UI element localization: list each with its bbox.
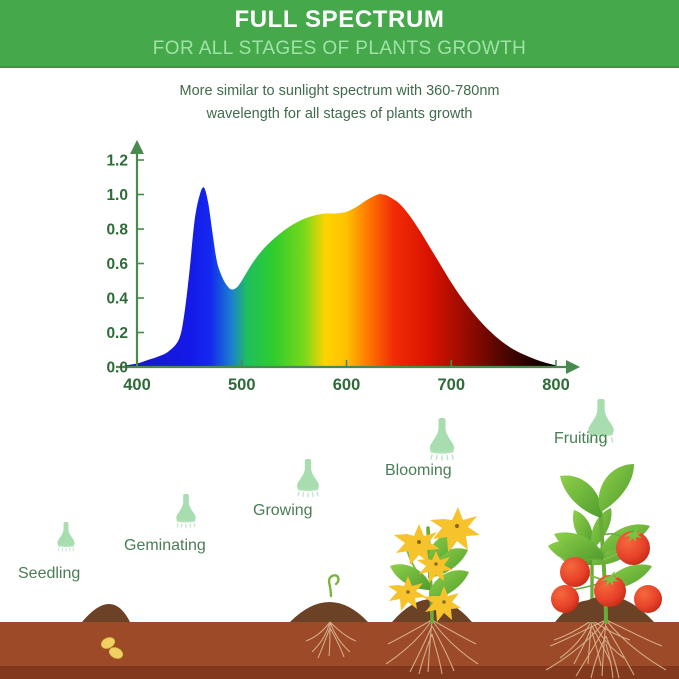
infographic-root: FULL SPECTRUM FOR ALL STAGES OF PLANTS G… bbox=[0, 0, 679, 679]
x-tick-label: 400 bbox=[123, 376, 151, 394]
x-axis-tick-labels: 400500600700800 bbox=[123, 376, 570, 394]
description-block: More similar to sunlight spectrum with 3… bbox=[0, 80, 679, 126]
x-tick-label: 500 bbox=[228, 376, 256, 394]
x-tick-label: 800 bbox=[542, 376, 570, 394]
y-tick-label: 0.8 bbox=[106, 222, 128, 239]
x-tick-label: 600 bbox=[333, 376, 361, 394]
grow-lamp-icon-seedling bbox=[52, 522, 80, 553]
fruit-5 bbox=[634, 585, 662, 613]
fruit-2 bbox=[560, 557, 590, 587]
leaf-5b bbox=[599, 464, 634, 512]
page-title: FULL SPECTRUM bbox=[234, 8, 444, 32]
header-banner: FULL SPECTRUM FOR ALL STAGES OF PLANTS G… bbox=[0, 0, 679, 68]
stage-label-blooming: Blooming bbox=[385, 462, 452, 480]
fruit-4 bbox=[551, 585, 579, 613]
stage-label-growing: Growing bbox=[253, 502, 313, 520]
sprout-shoot bbox=[329, 575, 338, 596]
stage-label-seedling: Seedling bbox=[18, 565, 80, 583]
spectrum-chart-svg: 0.00.20.40.60.81.01.2 400500600700800 bbox=[0, 140, 679, 400]
grow-lamp-icon-blooming bbox=[422, 418, 462, 462]
x-tick-label: 700 bbox=[437, 376, 465, 394]
y-tick-label: 1.0 bbox=[106, 187, 128, 204]
page-subtitle: FOR ALL STAGES OF PLANTS GROWTH bbox=[153, 39, 526, 58]
spectrum-curve bbox=[116, 187, 556, 367]
stage-label-geminating: Geminating bbox=[124, 537, 206, 555]
y-tick-label: 1.2 bbox=[106, 153, 128, 170]
soil-mound-2 bbox=[290, 602, 368, 622]
spectrum-chart: 0.00.20.40.60.81.01.2 400500600700800 bbox=[0, 140, 679, 400]
description-line-1: More similar to sunlight spectrum with 3… bbox=[0, 80, 679, 103]
grow-lamp-icon bbox=[422, 418, 462, 462]
y-axis-tick-labels: 0.00.20.40.60.81.01.2 bbox=[106, 153, 128, 377]
grow-lamp-icon-geminating bbox=[170, 494, 202, 529]
description-line-2: wavelength for all stages of plants grow… bbox=[0, 103, 679, 126]
y-tick-label: 0.0 bbox=[106, 360, 128, 377]
grow-lamp-icon-growing bbox=[290, 459, 326, 499]
y-tick-label: 0.4 bbox=[106, 291, 128, 308]
grow-lamp-icon bbox=[290, 459, 326, 499]
soil-mound-1 bbox=[82, 604, 130, 622]
grow-lamp-icon bbox=[170, 494, 202, 529]
leaf-5a bbox=[560, 475, 602, 518]
y-tick-label: 0.2 bbox=[106, 325, 128, 342]
grow-lamp-icon bbox=[52, 522, 80, 553]
y-tick-label: 0.6 bbox=[106, 256, 128, 273]
stage-label-fruiting: Fruiting bbox=[554, 430, 607, 448]
